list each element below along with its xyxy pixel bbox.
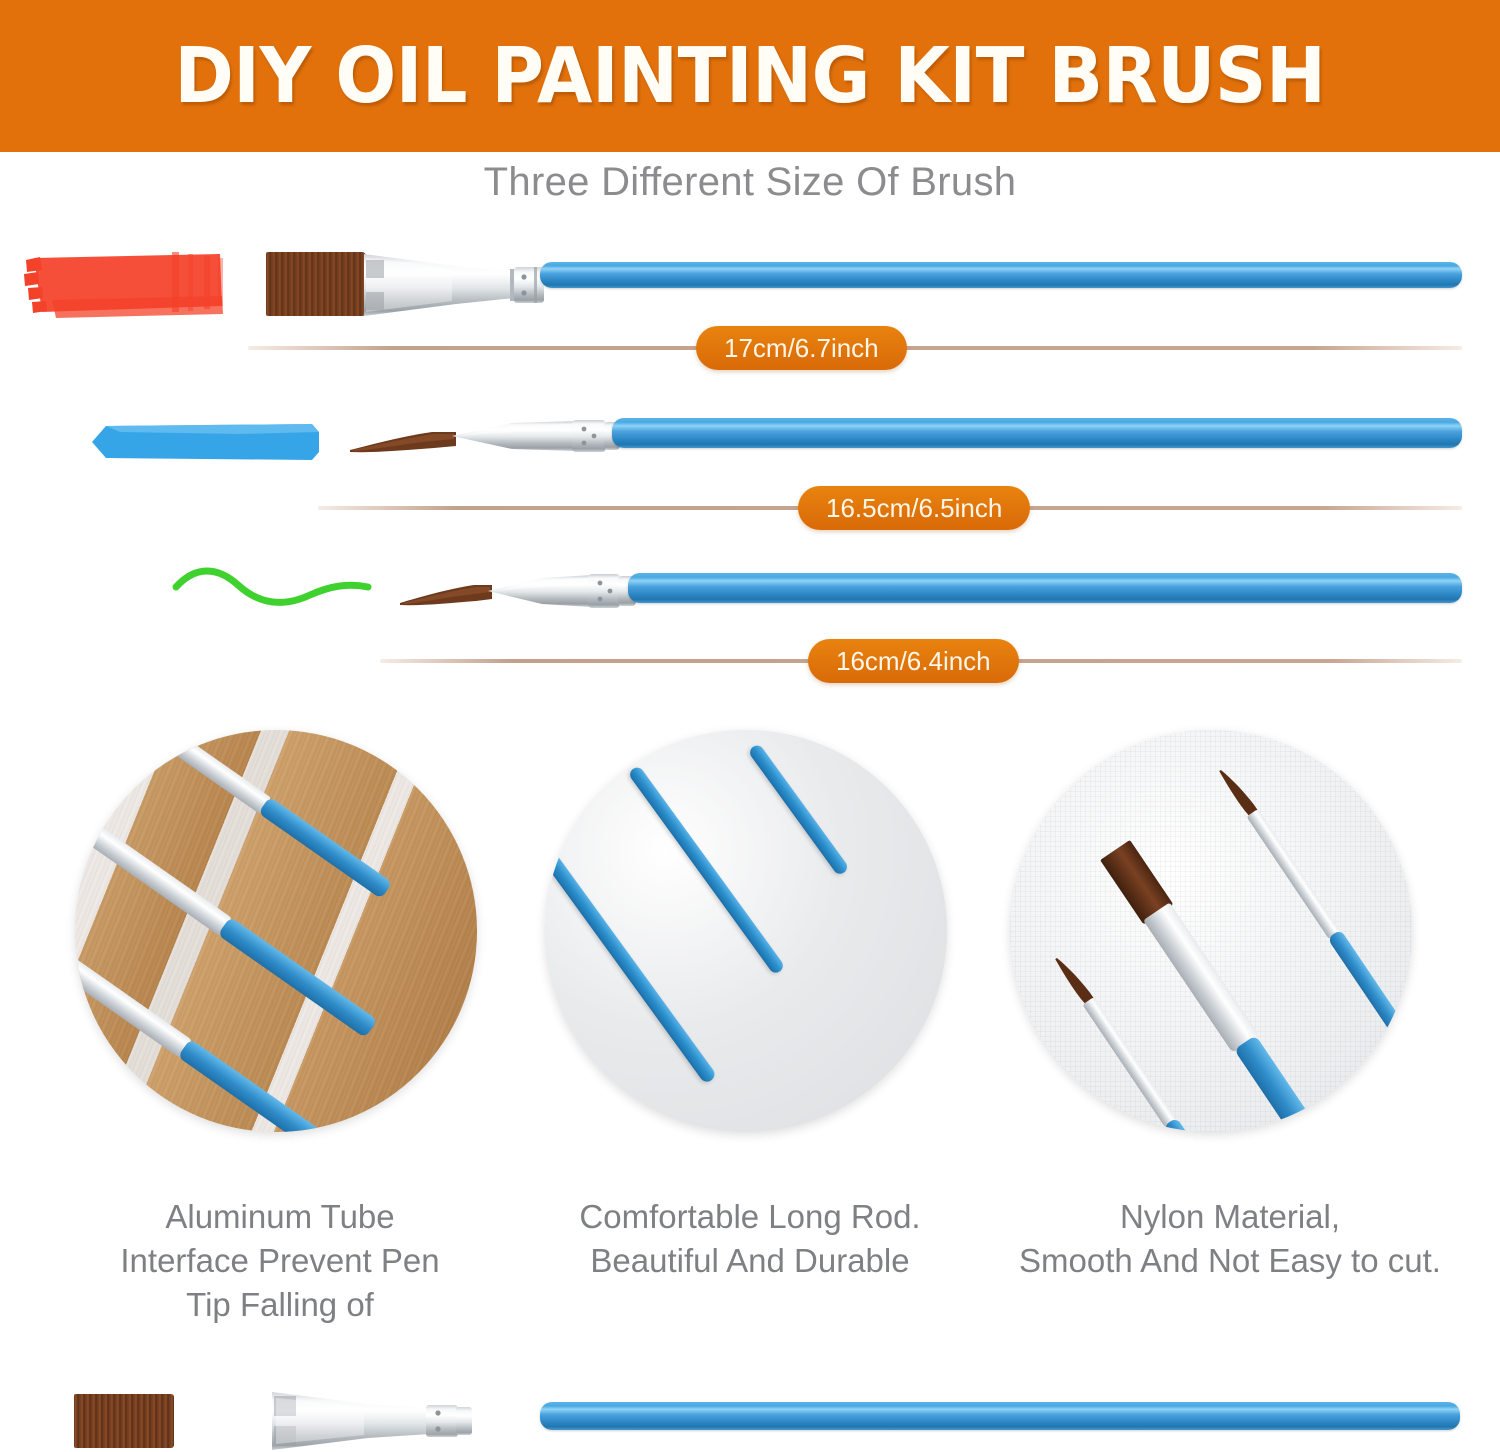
blue-paint-stroke-swatch xyxy=(90,422,320,462)
measurement-label-2: 16.5cm/6.5inch xyxy=(798,486,1030,530)
flat-ferrule xyxy=(364,250,544,320)
exploded-bristle-head xyxy=(74,1394,174,1448)
exploded-blue-handle-rod xyxy=(540,1402,1460,1430)
brush-row-flat: 17cm/6.7inch xyxy=(0,230,1500,380)
round-brush-handle xyxy=(612,418,1462,448)
flat-bristles xyxy=(266,252,366,316)
round-ferrule xyxy=(452,414,620,458)
liner-ferrule xyxy=(488,569,636,613)
feature-caption-long-rod: Comfortable Long Rod. Beautiful And Dura… xyxy=(530,1195,970,1283)
exploded-aluminum-ferrule xyxy=(272,1390,472,1452)
feature-photo-row xyxy=(0,718,1500,1188)
round-brush-tip xyxy=(348,420,458,464)
page-title: DIY OIL PAINTING KIT BRUSH xyxy=(174,38,1325,115)
red-paint-stroke-swatch xyxy=(22,244,232,324)
feature-photo-marble xyxy=(545,730,947,1132)
measurement-label-1: 17cm/6.7inch xyxy=(696,326,907,370)
header-banner: DIY OIL PAINTING KIT BRUSH xyxy=(0,0,1500,152)
brush-row-round: 16.5cm/6.5inch xyxy=(0,390,1500,540)
measurement-label-3: 16cm/6.4inch xyxy=(808,639,1019,683)
brush-row-liner: 16cm/6.4inch xyxy=(0,545,1500,695)
green-squiggle-stroke-swatch xyxy=(172,563,372,613)
brush-size-comparison: 17cm/6.7inch xyxy=(0,230,1500,700)
liner-brush-tip xyxy=(398,575,494,617)
feature-caption-aluminum-tube: Aluminum Tube Interface Prevent Pen Tip … xyxy=(60,1195,500,1327)
liner-brush-handle xyxy=(628,573,1462,603)
flat-brush-handle xyxy=(540,262,1462,288)
bamboo-background xyxy=(75,730,477,1132)
feature-photo-canvas xyxy=(1010,730,1412,1132)
exploded-parts-strip xyxy=(0,1380,1500,1450)
feature-photo-bamboo xyxy=(75,730,477,1132)
subtitle: Three Different Size Of Brush xyxy=(0,160,1500,205)
canvas-background xyxy=(1010,730,1412,1132)
feature-caption-row: Aluminum Tube Interface Prevent Pen Tip … xyxy=(0,1195,1500,1365)
feature-caption-nylon-material: Nylon Material, Smooth And Not Easy to c… xyxy=(995,1195,1465,1283)
